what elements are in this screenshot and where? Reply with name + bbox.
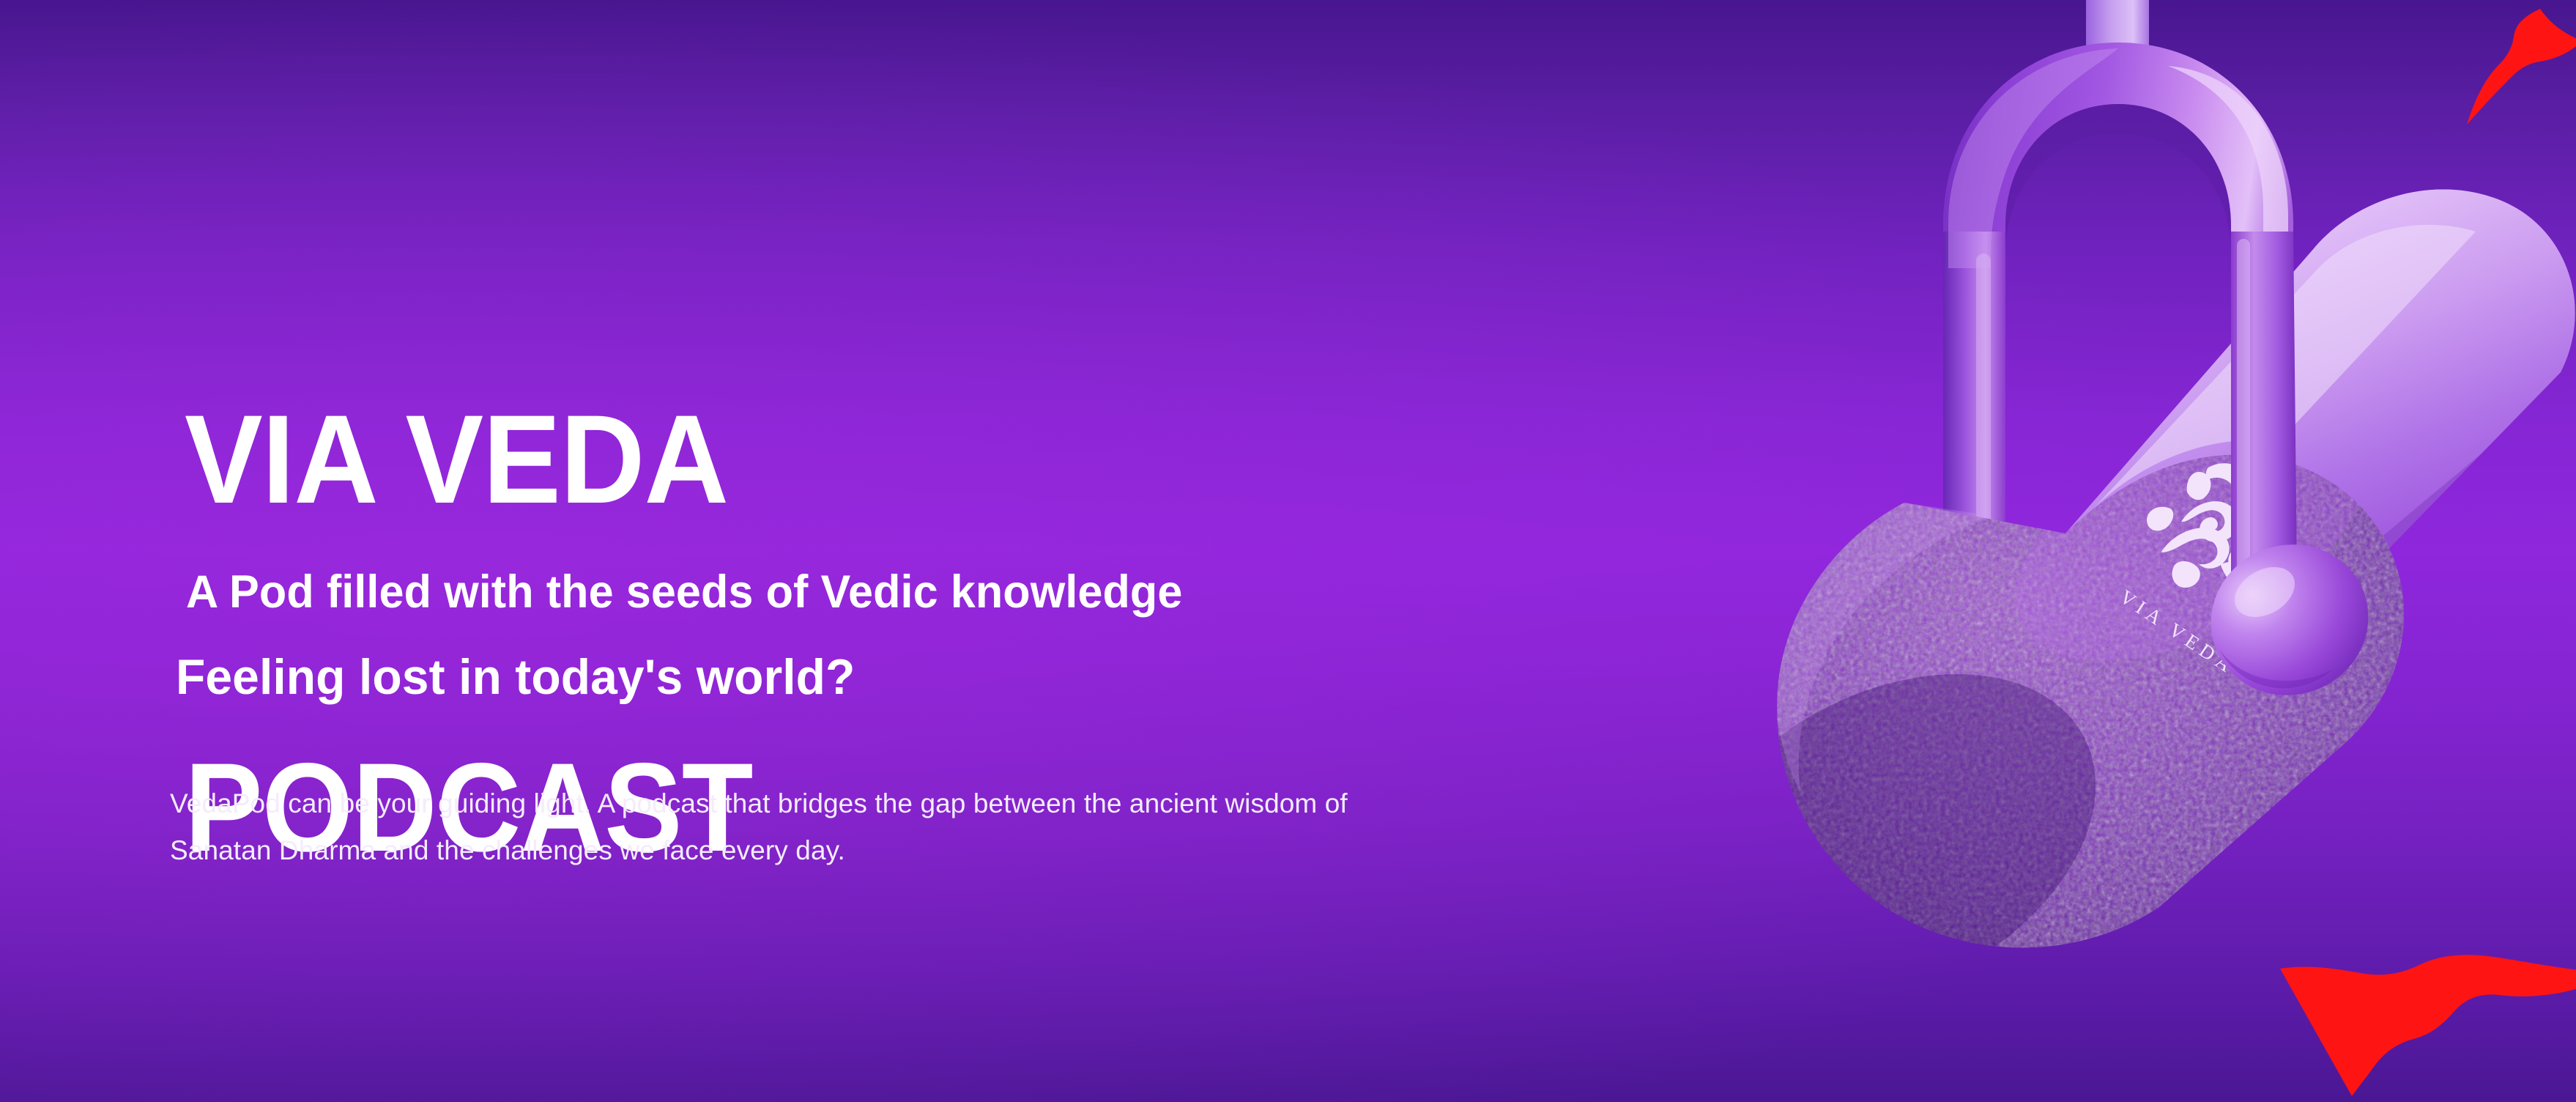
- hook-question: Feeling lost in today's world?: [176, 648, 855, 706]
- podcast-hero-banner: VIA VEDA PODCAST A Pod filled with the s…: [0, 0, 2576, 1102]
- mic-yoke: [1943, 42, 2293, 651]
- red-pennant-flag-bottom-right: [2274, 953, 2576, 1099]
- mic-body: [2065, 190, 2575, 635]
- body-copy: VedaPod can be your guiding light. A pod…: [170, 780, 1584, 873]
- flag-shape: [2280, 955, 2576, 1096]
- microphone-illustration: VIA VEDA: [1685, 0, 2576, 1102]
- body-line-2: Sanatan Dharma and the challenges we fac…: [170, 827, 1584, 874]
- title-line-1: VIA VEDA: [185, 402, 753, 517]
- mic-pivot-knob: [2190, 522, 2390, 717]
- mic-wordmark: VIA VEDA: [2116, 585, 2240, 679]
- mic-boom-stem: [2086, 0, 2149, 63]
- flag-shape: [2467, 9, 2576, 125]
- mic-brand-mark: VIA VEDA: [2079, 451, 2328, 709]
- om-floral-emblem: [2134, 451, 2298, 624]
- hero-text-column: VIA VEDA PODCAST A Pod filled with the s…: [170, 0, 1606, 1102]
- tagline: A Pod filled with the seeds of Vedic kno…: [186, 566, 1182, 618]
- red-pennant-flag-top-right: [2454, 4, 2576, 129]
- mic-yoke-front-leg: [2231, 232, 2297, 626]
- mic-wordmark-text: VIA VEDA: [2116, 585, 2240, 679]
- body-line-1: VedaPod can be your guiding light. A pod…: [170, 780, 1584, 827]
- page-title: VIA VEDA PODCAST: [185, 170, 753, 1098]
